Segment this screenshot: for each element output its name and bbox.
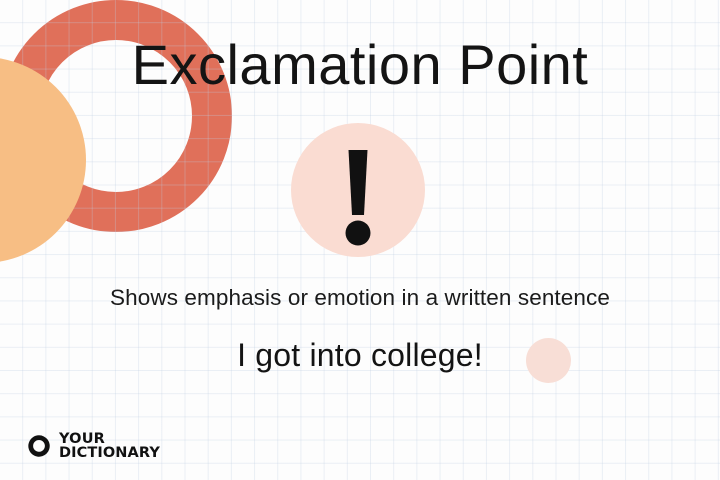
brand-logo: YOUR DICTIONARY	[26, 432, 160, 460]
q-circle-mark	[26, 433, 52, 459]
definition-text: Shows emphasis or emotion in a written s…	[0, 285, 720, 311]
symbol-badge-circle	[291, 123, 425, 257]
brand-wordmark: YOUR DICTIONARY	[59, 432, 160, 460]
brand-line-your: YOUR	[59, 432, 160, 446]
example-sentence: I got into college!	[0, 337, 720, 374]
brand-line-dictionary: DICTIONARY	[59, 446, 160, 460]
page-title: Exclamation Point	[0, 36, 720, 95]
infographic-card: Exclamation Point Shows emphasis or emot…	[0, 0, 720, 480]
